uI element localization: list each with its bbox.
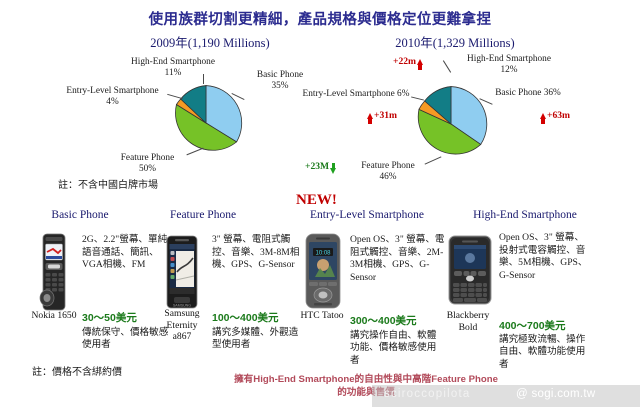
phone-image-samsung-eternity: SAMSUNG <box>162 232 202 310</box>
product-name-htc: HTC Tatoo <box>298 310 346 322</box>
samsung-phone-svg: SAMSUNG <box>162 232 202 312</box>
product-price-nokia: 30～50美元 <box>82 310 137 325</box>
label-feature-2010: Feature Phone 46% <box>352 161 424 184</box>
svg-text:SAMSUNG: SAMSUNG <box>173 304 191 308</box>
product-persona-blackberry: 講究極致流暢、操作自由、軟體功能使用者 <box>499 334 589 371</box>
product-persona-samsung: 講究多媒體、外觀造型使用者 <box>212 327 306 352</box>
label-feature-2009: Feature Phone 50% <box>105 153 190 176</box>
delta-high-end-2010: +22m <box>393 56 424 67</box>
arrow-up-icon <box>367 113 373 119</box>
product-spec-htc: Open OS、3" 螢幕、電阻式觸控、音樂、2M-3M相機、GPS、G-Sen… <box>350 234 446 285</box>
pie-svg-2010 <box>412 85 490 163</box>
watermark-site: @ sogi.com.tw <box>516 388 595 400</box>
phone-image-nokia-1650 <box>35 232 75 310</box>
arrow-up-icon <box>540 113 546 119</box>
chart-note-2009: 註：不含中國白牌市場 <box>58 176 158 191</box>
category-header-basic-phone: Basic Phone <box>30 209 130 221</box>
label-entry-2010: Entry-Level Smartphone 6% <box>300 89 412 100</box>
label-basic-2010: Basic Phone 36% <box>486 88 570 99</box>
chart-heading-2010: 2010年(1,329 Millions) <box>360 32 550 51</box>
page-title: 使用族群切割更精細，產品規格與價格定位更難拿捏 <box>0 8 640 29</box>
label-entry-2009: Entry-Level Smartphone 4% <box>55 86 170 109</box>
slide-canvas: 使用族群切割更精細，產品規格與價格定位更難拿捏 2009年(1,190 Mill… <box>0 0 640 407</box>
arrow-up-icon <box>417 59 423 65</box>
pie-chart-2010 <box>412 85 490 163</box>
category-header-high-end-smartphone: High-End Smartphone <box>450 209 600 221</box>
delta-entry-2010: +31m <box>366 110 397 121</box>
watermark-username: sciroccopilota <box>384 388 470 400</box>
product-spec-samsung: 3" 螢幕、電阻式觸控、音樂、3M-8M相機、GPS、G-Sensor <box>212 234 304 272</box>
pie-svg-2009 <box>167 84 245 162</box>
leader-high-end-2009 <box>203 74 204 84</box>
product-persona-htc: 講究操作自由、軟體功能、價格敏感使用者 <box>350 330 442 367</box>
delta-feature-2010: +23M <box>305 161 337 172</box>
phone-image-htc-tatoo: 10:08 <box>302 232 342 310</box>
chart-heading-2009: 2009年(1,190 Millions) <box>120 32 300 51</box>
price-note: 註：價格不含綁約價 <box>32 363 122 378</box>
product-price-samsung: 100～400美元 <box>212 310 279 325</box>
product-name-nokia: Nokia 1650 <box>30 310 78 322</box>
product-spec-nokia: 2G、2.2"螢幕、單純語音通話、簡訊、VGA相機、FM <box>82 234 174 272</box>
blackberry-phone-svg <box>447 232 493 314</box>
product-name-blackberry: Blackberry Bold <box>442 310 494 333</box>
label-high-end-2009: High-End Smartphone 11% <box>108 57 238 80</box>
htc-phone-svg: 10:08 <box>302 232 344 314</box>
pie-chart-2009 <box>167 84 245 162</box>
arrow-down-icon <box>330 168 336 174</box>
delta-basic-2010: +63m <box>539 110 570 121</box>
category-header-feature-phone: Feature Phone <box>148 209 258 221</box>
product-name-samsung: Samsung Eternity a867 <box>158 308 206 343</box>
product-price-htc: 300～400美元 <box>350 313 417 328</box>
new-badge: NEW! <box>296 192 337 209</box>
nokia-phone-svg <box>35 232 75 312</box>
svg-text:10:08: 10:08 <box>315 251 331 257</box>
product-price-blackberry: 400～700美元 <box>499 318 566 333</box>
phone-image-blackberry-bold <box>447 232 487 310</box>
category-header-entry-smartphone: Entry-Level Smartphone <box>292 209 442 221</box>
label-high-end-2010: High-End Smartphone 12% <box>444 54 574 77</box>
product-spec-blackberry: Open OS、3" 螢幕、投射式電容觸控、音樂、5M相機、GPS、G-Sens… <box>499 232 589 283</box>
